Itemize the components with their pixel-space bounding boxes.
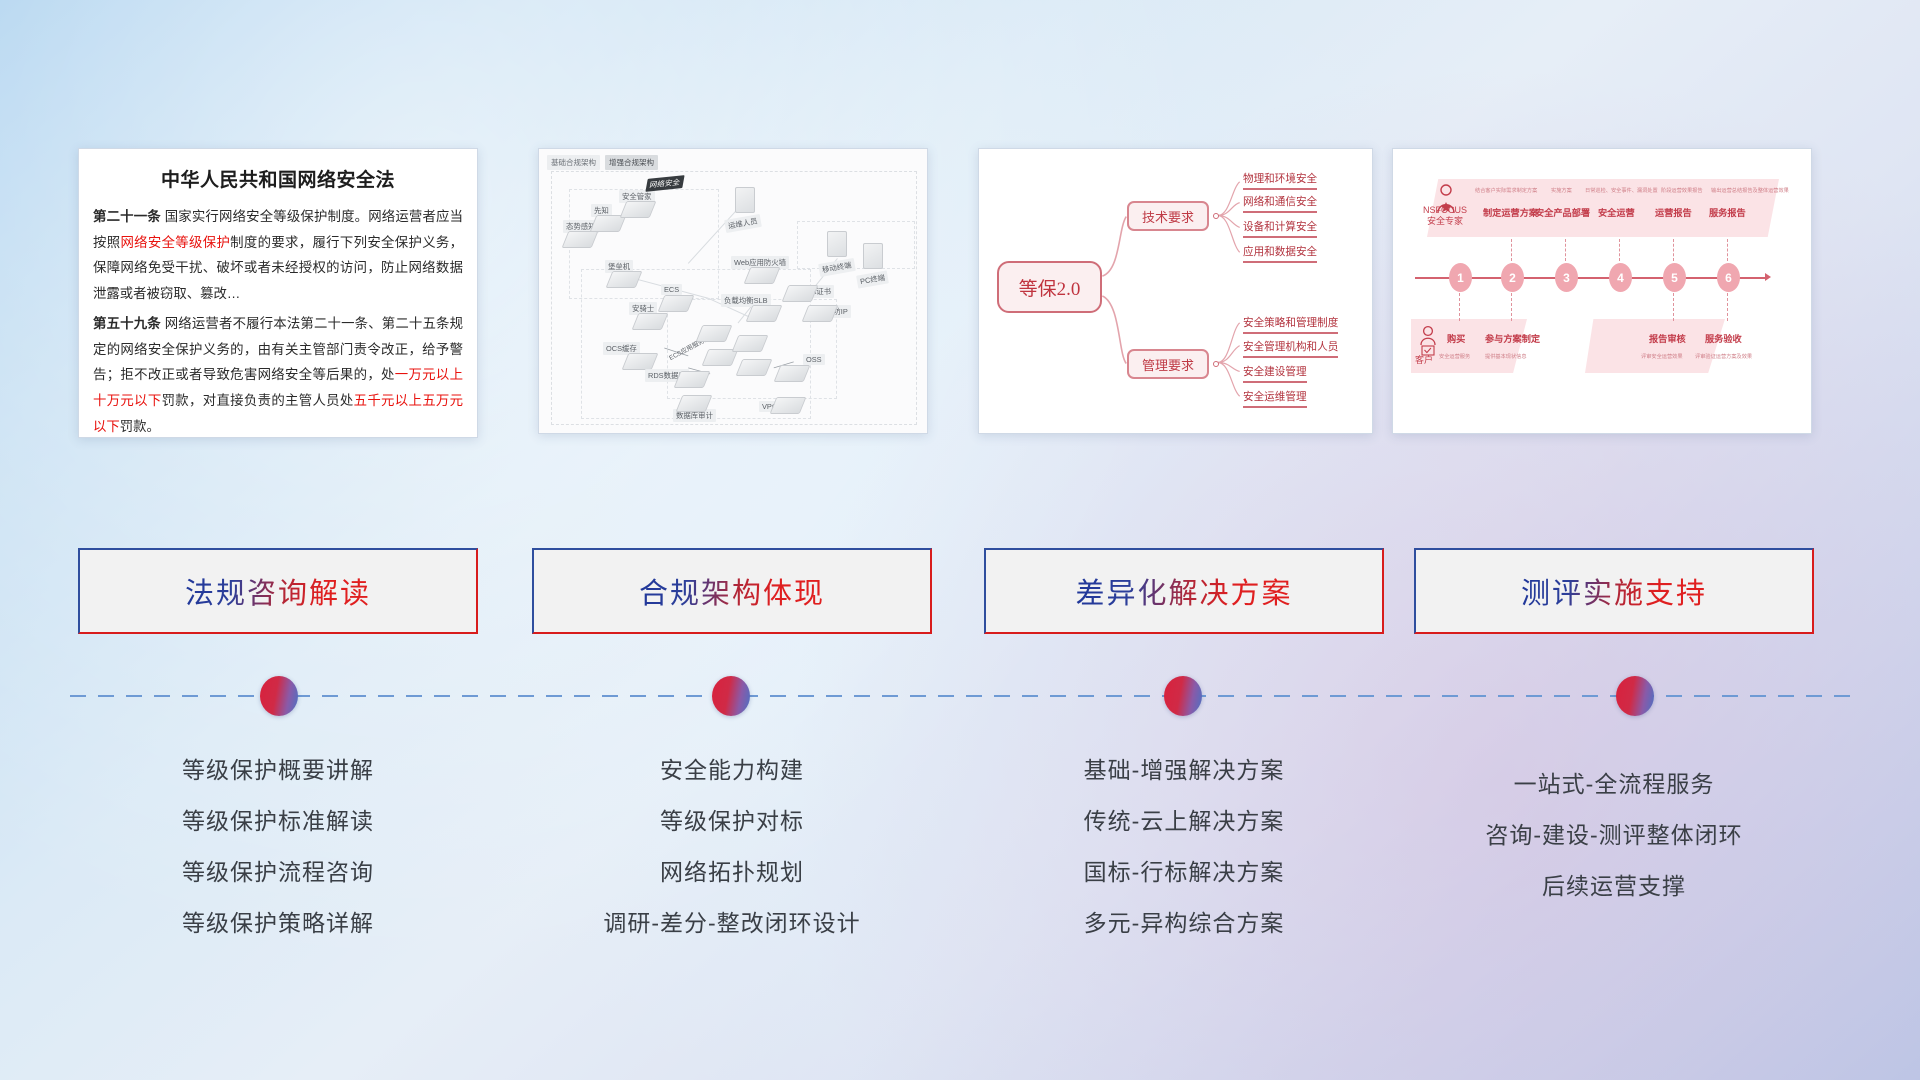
timeline-step-6[interactable]: 6 [1717,263,1740,292]
mindmap-collapse-management-icon[interactable] [1213,361,1219,367]
node-rds-database: RDS数据库 [677,371,707,388]
bottom-title-1[interactable]: 购买 [1447,331,1465,345]
node-security-butler: 安全管家 [623,201,653,218]
top-title-3[interactable]: 安全运营 [1598,205,1635,219]
top-sub-3: 日常巡检、安全事件、漏洞处置 [1585,187,1658,194]
list-item[interactable]: 等级保护流程咨询 [78,847,478,898]
connector-participate [1511,293,1512,321]
bottom-sub-2: 提供基本现状信息 [1485,353,1527,360]
connector-step-4 [1619,239,1620,261]
node-waf: Web应用防火墙 [747,267,777,284]
service-list-solution: 基础-增强解决方案 传统-云上解决方案 国标-行标解决方案 多元-异构综合方案 [984,745,1384,949]
list-item[interactable]: 安全能力构建 [532,745,932,796]
tab-basic-architecture[interactable]: 基础合规架构 [547,155,600,170]
connector-buy [1459,293,1460,321]
list-item[interactable]: 等级保护标准解读 [78,796,478,847]
top-title-1[interactable]: 制定运营方案 [1483,205,1538,219]
service-lists-row: 等级保护概要讲解 等级保护标准解读 等级保护流程咨询 等级保护策略详解 安全能力… [0,745,1920,975]
bottom-title-3[interactable]: 报告审核 [1649,331,1686,345]
customer-avatar-icon [1417,325,1439,357]
node-slb: 负载均衡SLB [749,305,779,322]
node-database-audit: 数据库审计 [679,395,709,412]
node-ecs-instance-d [739,359,769,376]
timeline-step-4[interactable]: 4 [1609,263,1632,292]
list-item[interactable]: 调研-差分-整改闭环设计 [532,898,932,949]
nsfocus-timeline: NSFOCUS 安全专家 客户 1 2 3 4 5 6 [1393,149,1811,433]
timeline-arrow-icon [1765,273,1771,281]
card-dengbao-mindmap[interactable]: 等保2.0 技术要求 管理要求 物理和环境安全 网络和通信安全 设备和计算安全 … [978,148,1373,434]
tab-enhanced-architecture[interactable]: 增强合规架构 [605,155,658,170]
list-item[interactable]: 等级保护策略详解 [78,898,478,949]
section-titles-row: 法规咨询解读 合规架构体现 差异化解决方案 测评实施支持 [0,548,1920,636]
list-item[interactable]: 基础-增强解决方案 [984,745,1384,796]
mindmap-leaf-tech-2[interactable]: 网络和通信安全 [1243,194,1317,213]
nsfocus-customer-band-right [1585,319,1725,373]
feature-cards-row: 中华人民共和国网络安全法 第二十一条 国家实行网络安全等级保护制度。网络运营者应… [0,148,1920,444]
top-sub-4: 阶段运营效果报告 [1661,187,1703,194]
service-list-regulation: 等级保护概要讲解 等级保护标准解读 等级保护流程咨询 等级保护策略详解 [78,745,478,949]
timeline-step-5[interactable]: 5 [1663,263,1686,292]
architecture-diagram: 基础合规架构 增强合规架构 态势感知 先知 [539,149,927,433]
title-box-compliance-architecture[interactable]: 合规架构体现 [532,548,932,634]
mindmap: 等保2.0 技术要求 管理要求 物理和环境安全 网络和通信安全 设备和计算安全 … [979,149,1372,433]
architecture-zone-terminal [797,221,915,269]
card-nsfocus-service-timeline[interactable]: NSFOCUS 安全专家 客户 1 2 3 4 5 6 [1392,148,1812,434]
top-title-5[interactable]: 服务报告 [1709,205,1746,219]
list-item[interactable]: 等级保护对标 [532,796,932,847]
mindmap-root[interactable]: 等保2.0 [997,261,1102,313]
mindmap-branch-management[interactable]: 管理要求 [1127,349,1209,379]
node-vpc: VPC [773,397,803,414]
node-ecs-instance-b [705,349,735,366]
node-bastion-host: 堡垒机 [609,271,639,288]
list-item[interactable]: 等级保护概要讲解 [78,745,478,796]
bottom-sub-3: 评审安全运营效果 [1641,353,1683,360]
node-oss: OSS [777,365,807,382]
law-body-text: 罚款，对直接负责的主管人员处 [162,393,354,408]
mindmap-leaf-mgmt-4[interactable]: 安全运维管理 [1243,389,1307,408]
connector-step-5 [1673,239,1674,261]
connector-step-2 [1511,239,1512,261]
list-item[interactable]: 网络拓扑规划 [532,847,932,898]
list-item[interactable]: 多元-异构综合方案 [984,898,1384,949]
node-anqishi: 安骑士 [635,313,665,330]
law-highlight-text: 网络安全等级保护 [120,235,230,250]
timeline-node-4[interactable] [1616,676,1654,716]
bottom-title-2[interactable]: 参与方案制定 [1485,331,1540,345]
list-item[interactable]: 一站式-全流程服务 [1414,759,1814,810]
title-box-assessment-support[interactable]: 测评实施支持 [1414,548,1814,634]
customer-role-label: 客户 [1415,355,1433,366]
law-article-number: 第二十一条 [93,209,161,224]
mindmap-leaf-mgmt-1[interactable]: 安全策略和管理制度 [1243,315,1338,334]
mindmap-leaf-tech-4[interactable]: 应用和数据安全 [1243,244,1317,263]
node-anti-ddos-ip: 高防IP [805,305,835,322]
service-list-assessment: 一站式-全流程服务 咨询-建设-测评整体闭环 后续运营支撑 [1414,759,1814,912]
top-sub-2: 实施方案 [1551,187,1572,194]
connector-report-review [1673,293,1674,321]
node-ecs-instance-c [735,335,765,352]
node-xianzhi: 先知 [593,215,623,232]
architecture-tabs[interactable]: 基础合规架构 增强合规架构 [547,155,658,170]
node-situational-awareness: 态势感知 [565,231,595,248]
law-paragraph-59: 第五十九条 网络运营者不履行本法第二十一条、第二十五条规定的网络安全保护义务的，… [93,311,463,438]
card-compliance-architecture[interactable]: 基础合规架构 增强合规架构 态势感知 先知 [538,148,928,434]
mindmap-branch-technical[interactable]: 技术要求 [1127,201,1209,231]
timeline-node-2[interactable] [712,676,750,716]
mindmap-leaf-tech-3[interactable]: 设备和计算安全 [1243,219,1317,238]
list-item[interactable]: 国标-行标解决方案 [984,847,1384,898]
mindmap-leaf-mgmt-2[interactable]: 安全管理机构和人员 [1243,339,1338,358]
bottom-sub-4: 评审验证运营方案及效果 [1695,353,1752,360]
bottom-sub-1: 安全运营服务 [1439,353,1470,360]
title-label-3: 差异化解决方案 [1075,570,1292,612]
timeline-step-3[interactable]: 3 [1555,263,1578,292]
law-title: 中华人民共和国网络安全法 [93,165,463,192]
top-sub-1: 结合客户实际需求制定方案 [1475,187,1537,194]
mindmap-collapse-technical-icon[interactable] [1213,213,1219,219]
connector-service-accept [1727,293,1728,321]
connector-step-3 [1565,239,1566,261]
title-box-differentiated-solution[interactable]: 差异化解决方案 [984,548,1384,634]
card-cybersecurity-law[interactable]: 中华人民共和国网络安全法 第二十一条 国家实行网络安全等级保护制度。网络运营者应… [78,148,478,438]
law-body-text: 罚款。 [120,419,160,434]
bottom-title-4[interactable]: 服务验收 [1705,331,1742,345]
top-title-2[interactable]: 安全产品部署 [1535,205,1590,219]
progress-timeline [70,695,1850,697]
node-ca-certificate: CA证书 [785,285,815,302]
timeline-step-1[interactable]: 1 [1449,263,1472,292]
timeline-step-2[interactable]: 2 [1501,263,1524,292]
title-label-1: 法规咨询解读 [185,570,371,612]
list-item[interactable]: 后续运营支撑 [1414,861,1814,912]
law-article-number: 第五十九条 [93,316,161,331]
top-sub-5: 输出运营总结报告及整体运营效果 [1711,187,1789,194]
title-label-2: 合规架构体现 [639,570,825,612]
node-ecs-instance-a [699,325,729,342]
timeline-node-1[interactable] [260,676,298,716]
mindmap-leaf-tech-1[interactable]: 物理和环境安全 [1243,171,1317,190]
timeline-dashed-line [70,695,1850,697]
node-ecs: ECS [661,295,691,312]
mindmap-leaf-mgmt-3[interactable]: 安全建设管理 [1243,364,1307,383]
expert-role-label: NSFOCUS 安全专家 [1423,205,1467,228]
list-item[interactable]: 传统-云上解决方案 [984,796,1384,847]
title-box-regulation-consulting[interactable]: 法规咨询解读 [78,548,478,634]
title-label-4: 测评实施支持 [1521,570,1707,612]
service-list-architecture: 安全能力构建 等级保护对标 网络拓扑规划 调研-差分-整改闭环设计 [532,745,932,949]
connector-step-6 [1727,239,1728,261]
node-ocs-cache: OCS缓存 [625,353,655,370]
timeline-node-3[interactable] [1164,676,1202,716]
top-title-4[interactable]: 运营报告 [1655,205,1692,219]
list-item[interactable]: 咨询-建设-测评整体闭环 [1414,810,1814,861]
law-paragraph-21: 第二十一条 国家实行网络安全等级保护制度。网络运营者应当按照网络安全等级保护制度… [93,204,463,307]
